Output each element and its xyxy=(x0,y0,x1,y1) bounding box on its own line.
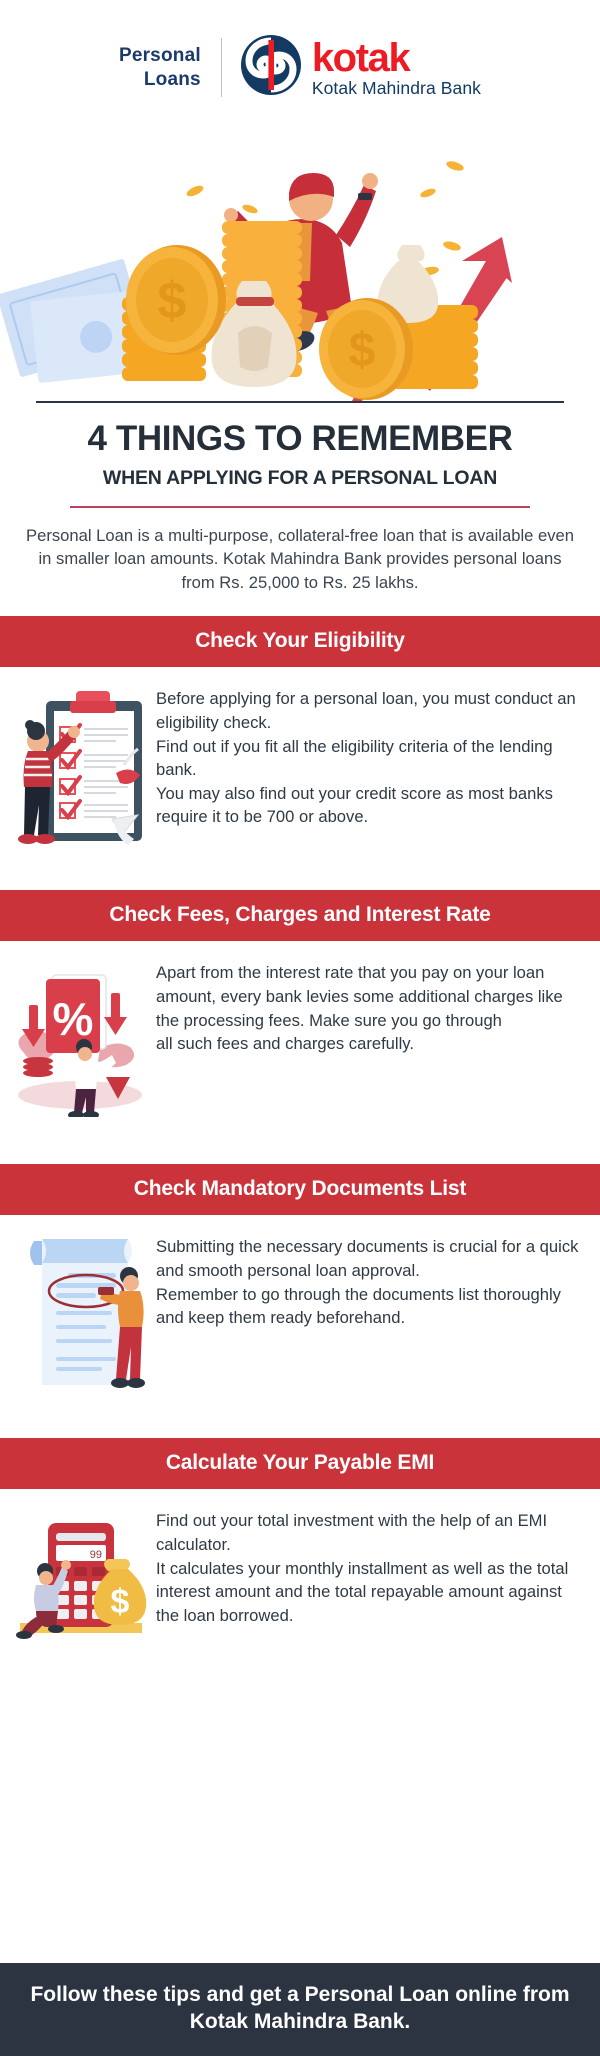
brand-header: Personal Loans kotak Kotak Mahindra Bank xyxy=(0,0,600,111)
product-line-word-2: Loans xyxy=(119,68,201,92)
section-calculate-emi: Calculate Your Payable EMI 99 xyxy=(0,1438,600,1690)
percent-down-arrow-icon: % xyxy=(12,957,148,1132)
infographic-page: Personal Loans kotak Kotak Mahindra Bank xyxy=(0,0,600,2056)
section-paragraph: Apart from the interest rate that you pa… xyxy=(156,961,588,1055)
section-heading: Calculate Your Payable EMI xyxy=(0,1438,600,1489)
kotak-logo-icon xyxy=(240,34,302,101)
coin-large-right: $ xyxy=(319,298,413,400)
title-block: 4 THINGS TO REMEMBER WHEN APPLYING FOR A… xyxy=(0,403,600,594)
section-heading: Check Your Eligibility xyxy=(0,616,600,667)
intro-paragraph: Personal Loan is a multi-purpose, collat… xyxy=(24,524,576,595)
kotak-word: kotak xyxy=(312,38,481,78)
calculator-money-bag-icon: 99 xyxy=(12,1505,148,1680)
hero-illustration-svg: $ $ xyxy=(0,111,600,401)
product-line-label: Personal Loans xyxy=(119,44,221,92)
accent-rule xyxy=(70,506,530,508)
section-text: Before applying for a personal loan, you… xyxy=(156,683,588,828)
section-check-eligibility: Check Your Eligibility xyxy=(0,616,600,868)
section-heading: Check Fees, Charges and Interest Rate xyxy=(0,890,600,941)
svg-text:$: $ xyxy=(349,324,376,377)
section-body: % xyxy=(0,941,600,1142)
section-body: Before applying for a personal loan, you… xyxy=(0,667,600,868)
section-paragraph: Before applying for a personal loan, you… xyxy=(156,687,588,828)
kotak-brand-lockup: kotak Kotak Mahindra Bank xyxy=(222,34,481,101)
bank-name: Kotak Mahindra Bank xyxy=(312,80,481,98)
clipboard-checklist-icon xyxy=(12,683,148,858)
coin-large-left: $ xyxy=(126,245,226,355)
section-text: Find out your total investment with the … xyxy=(156,1505,588,1627)
svg-text:$: $ xyxy=(111,1583,130,1621)
section-fees-charges: Check Fees, Charges and Interest Rate % xyxy=(0,890,600,1142)
page-title: 4 THINGS TO REMEMBER xyxy=(24,421,576,458)
section-heading: Check Mandatory Documents List xyxy=(0,1164,600,1215)
calculator-display: 99 xyxy=(90,1549,102,1561)
product-line-word-1: Personal xyxy=(119,44,201,68)
svg-text:$: $ xyxy=(158,272,187,330)
kotak-wordmark: kotak Kotak Mahindra Bank xyxy=(312,38,481,98)
hero-illustration: $ $ xyxy=(0,111,600,401)
section-paragraph: Submitting the necessary documents is cr… xyxy=(156,1235,588,1329)
section-paragraph: Find out your total investment with the … xyxy=(156,1509,588,1627)
section-body: Submitting the necessary documents is cr… xyxy=(0,1215,600,1416)
footer-text: Follow these tips and get a Personal Loa… xyxy=(30,1983,569,2034)
document-review-icon xyxy=(12,1231,148,1406)
section-documents-list: Check Mandatory Documents List xyxy=(0,1164,600,1416)
page-subtitle: WHEN APPLYING FOR A PERSONAL LOAN xyxy=(24,467,576,490)
section-text: Apart from the interest rate that you pa… xyxy=(156,957,588,1055)
section-text: Submitting the necessary documents is cr… xyxy=(156,1231,588,1329)
svg-text:%: % xyxy=(53,993,94,1045)
section-body: 99 xyxy=(0,1489,600,1690)
footer-banner: Follow these tips and get a Personal Loa… xyxy=(0,1963,600,2056)
